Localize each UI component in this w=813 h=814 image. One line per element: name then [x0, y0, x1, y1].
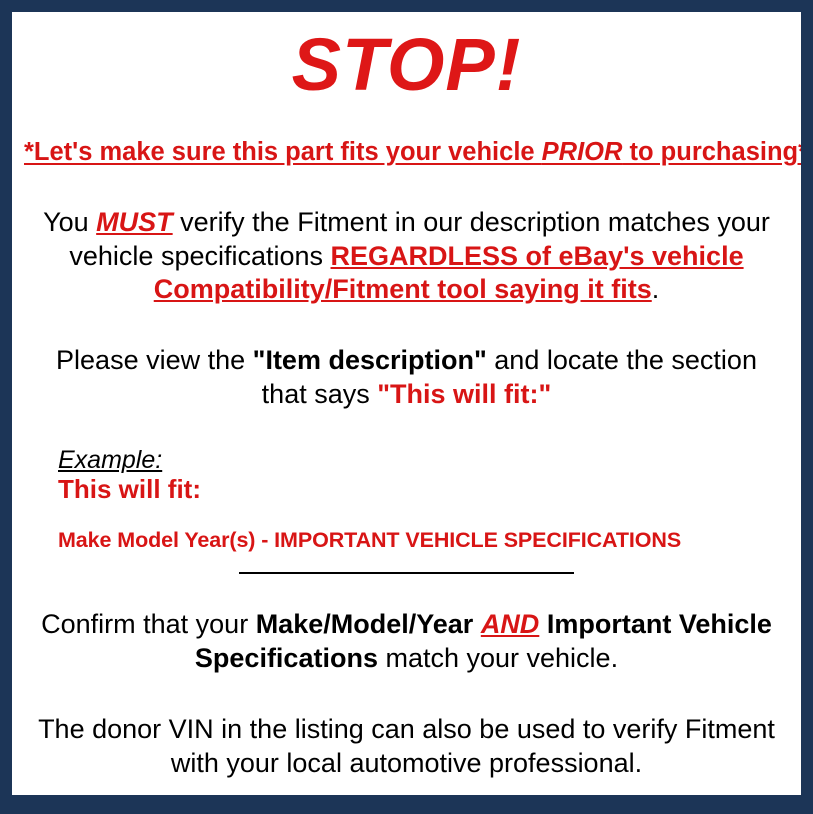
must-text-part-1: You [43, 207, 96, 237]
example-block: Example: This will fit: Make Model Year(… [22, 447, 791, 552]
example-specification-line: Make Model Year(s) - IMPORTANT VEHICLE S… [58, 529, 791, 553]
notice-border-frame: STOP! *Let's make sure this part fits yo… [0, 0, 813, 814]
make-model-year-emphasis: Make/Model/Year [256, 609, 474, 639]
confirm-space-2 [539, 609, 547, 639]
subheading-text-after: to purchasing* [622, 138, 801, 166]
divider-wrapper [22, 572, 791, 574]
subheading-banner: *Let's make sure this part fits your veh… [22, 138, 791, 166]
page-title: STOP! [22, 28, 791, 102]
this-will-fit-emphasis: "This will fit:" [377, 379, 551, 409]
must-emphasis: MUST [96, 207, 173, 237]
example-label-row: Example: [58, 447, 791, 474]
example-label: Example: [58, 447, 162, 474]
notice-card: STOP! *Let's make sure this part fits yo… [12, 12, 801, 795]
confirm-space-1 [473, 609, 481, 639]
and-emphasis: AND [481, 609, 540, 639]
subheading-text-before: *Let's make sure this part fits your veh… [24, 138, 542, 166]
horizontal-divider [239, 572, 574, 574]
confirm-text-part-2: match your vehicle. [378, 643, 618, 673]
confirm-paragraph: Confirm that your Make/Model/Year AND Im… [22, 608, 791, 675]
view-item-description-paragraph: Please view the "Item description" and l… [22, 344, 791, 411]
confirm-text-part-1: Confirm that your [41, 609, 256, 639]
must-text-part-3: . [652, 274, 660, 304]
item-description-emphasis: "Item description" [253, 345, 487, 375]
view-text-part-1: Please view the [56, 345, 253, 375]
donor-vin-paragraph: The donor VIN in the listing can also be… [22, 713, 791, 780]
example-this-will-fit-heading: This will fit: [58, 475, 791, 504]
subheading-emphasis-prior: PRIOR [542, 138, 623, 166]
must-verify-paragraph: You MUST verify the Fitment in our descr… [22, 206, 791, 306]
